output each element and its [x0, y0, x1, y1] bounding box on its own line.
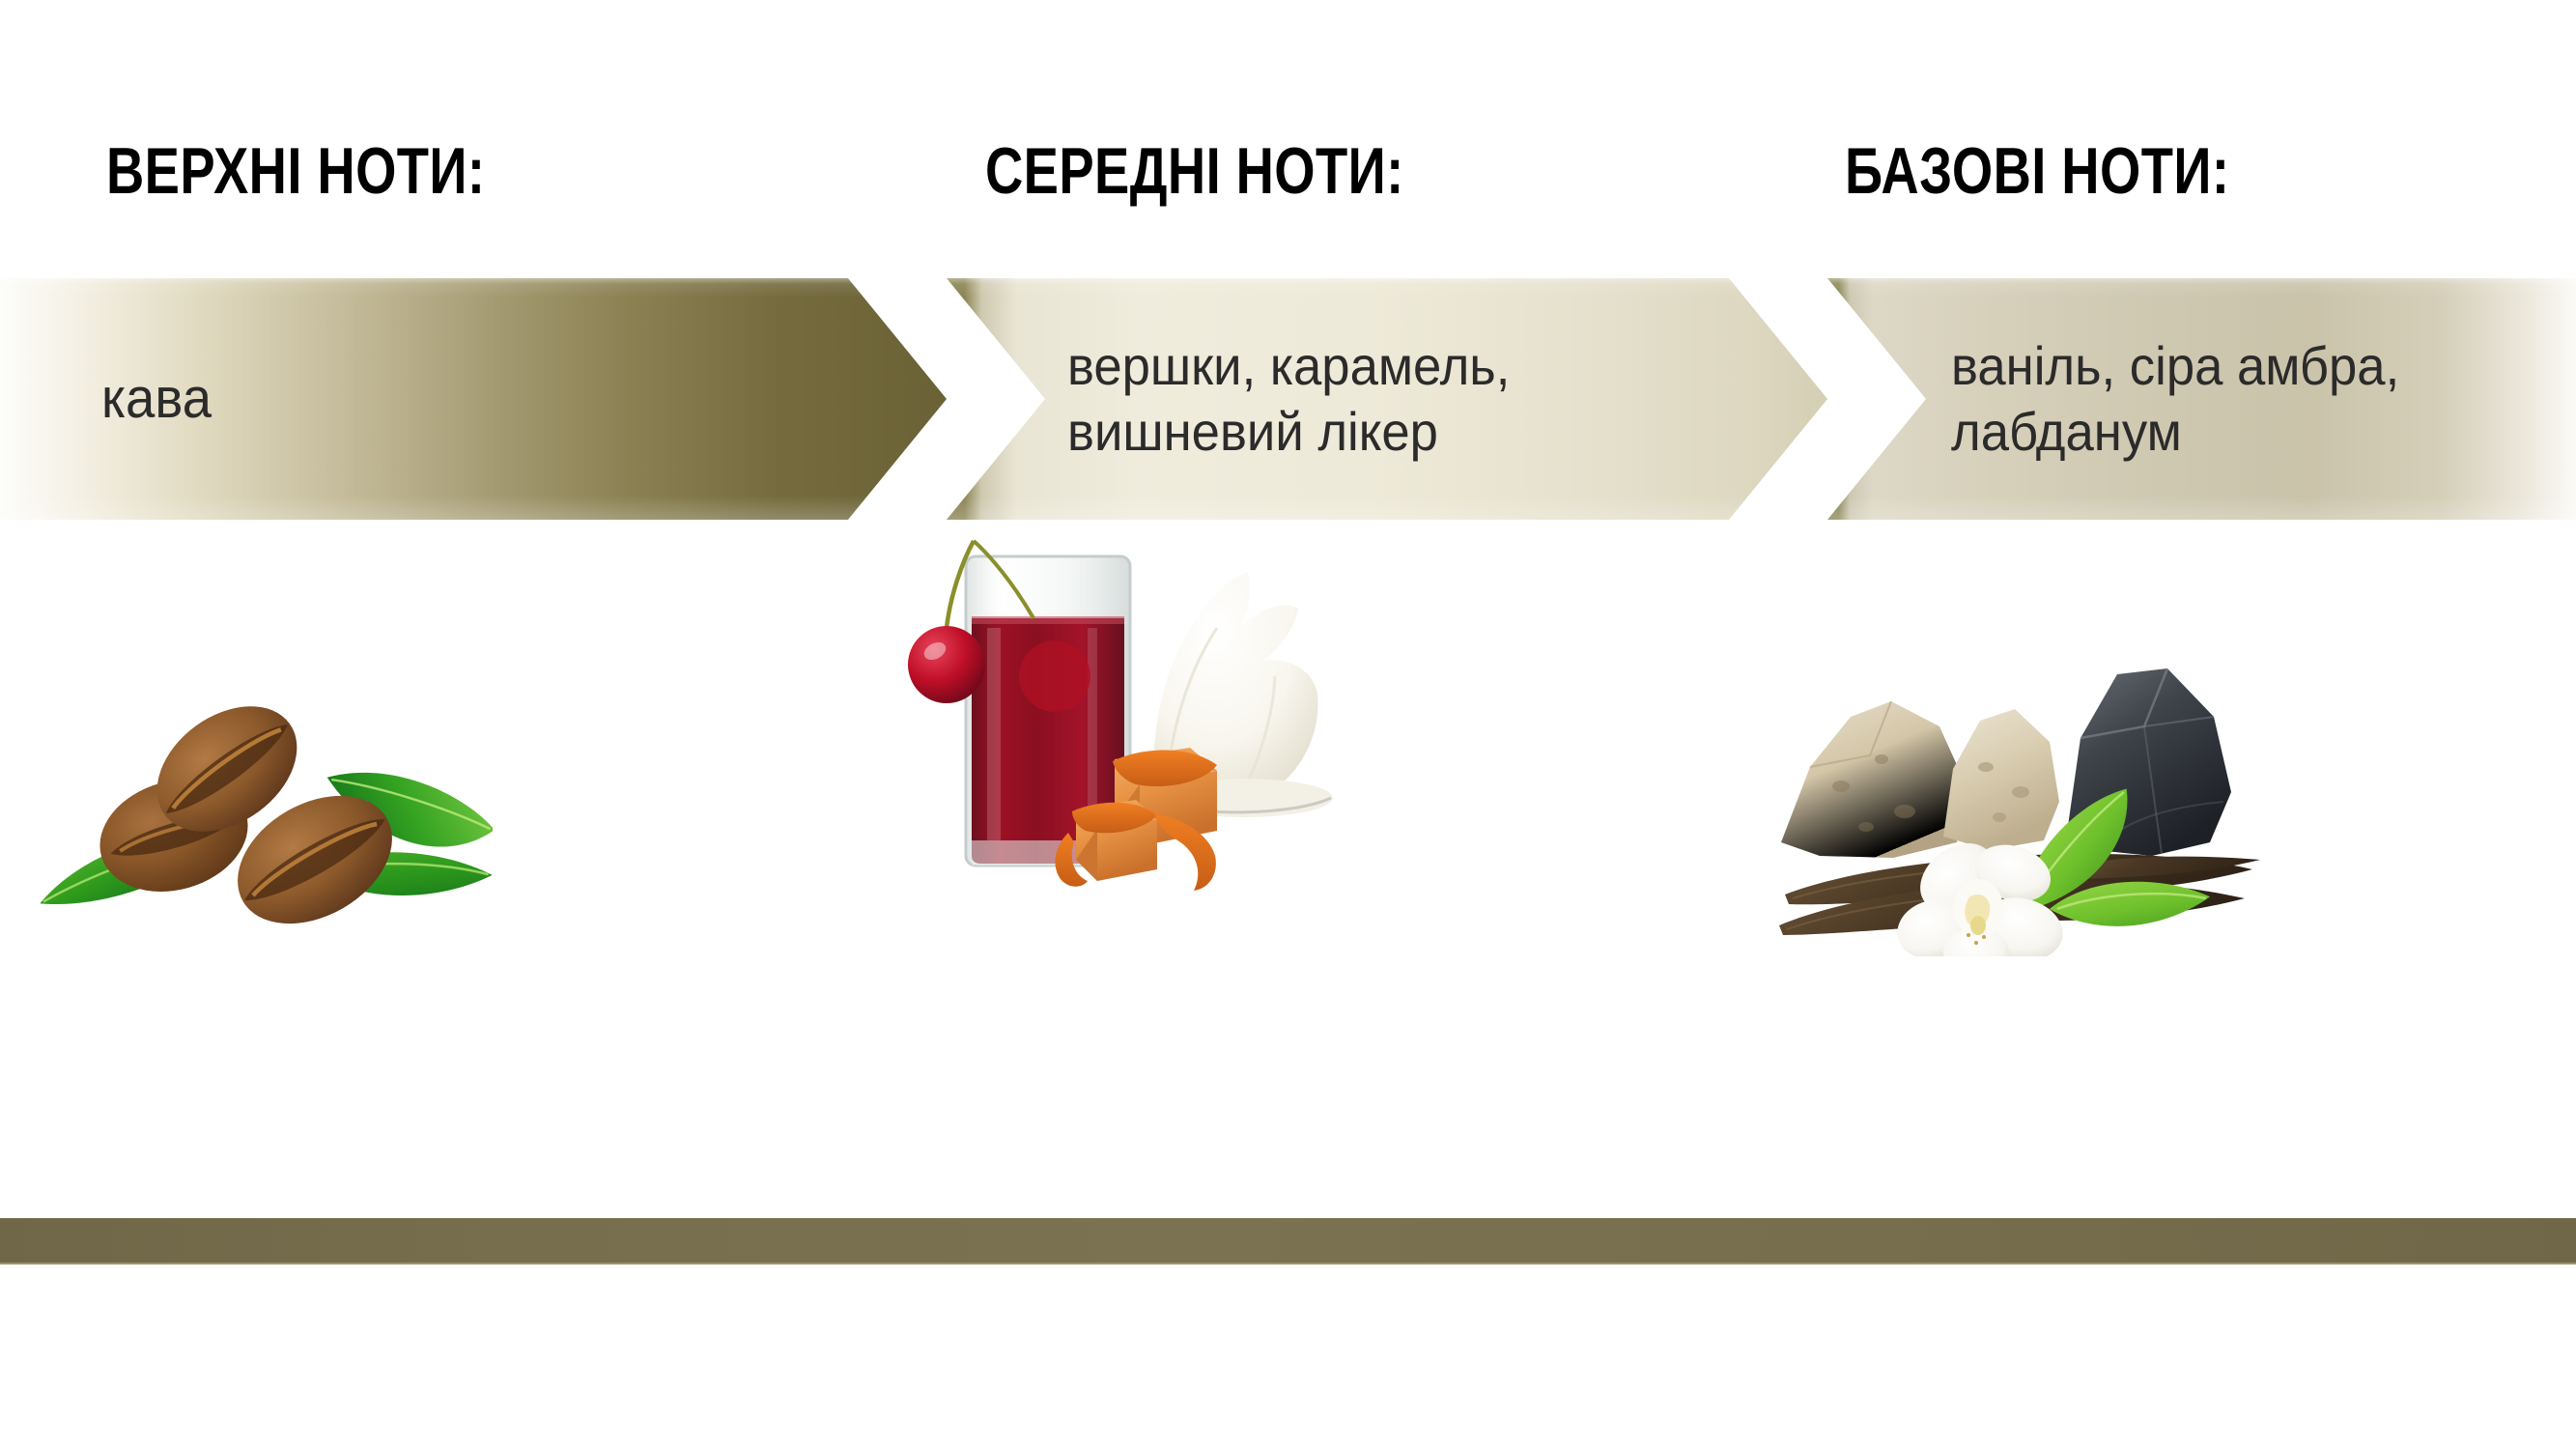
- ambergris-stone: [1943, 709, 2059, 850]
- chevron-segment-top-notes: кава: [0, 278, 947, 520]
- ambergris-stone: [1781, 701, 1967, 858]
- base-notes-text: ваніль, сіра амбра, лабданум: [1951, 333, 2399, 466]
- chevron-segment-middle-notes: вершки, карамель, вишневий лікер: [947, 278, 1827, 520]
- heading-base-notes: БАЗОВІ НОТИ:: [1845, 133, 2229, 209]
- caramel-cube: [1072, 800, 1157, 881]
- middle-notes-text: вершки, карамель, вишневий лікер: [1067, 333, 1510, 466]
- heading-top-notes: ВЕРХНІ НОТИ:: [106, 133, 485, 209]
- coffee-beans-illustration: [29, 676, 493, 927]
- footer-accent-bar: [0, 1218, 2576, 1264]
- fragrance-notes-infographic: ВЕРХНІ НОТИ: СЕРЕДНІ НОТИ: БАЗОВІ НОТИ: …: [0, 0, 2576, 1449]
- notes-chevron-band: кава вершки, карамель, вишневий лікер ва…: [0, 278, 2576, 520]
- chevron-segment-base-notes: ваніль, сіра амбра, лабданум: [1827, 278, 2576, 520]
- top-notes-text: кава: [101, 365, 212, 434]
- cream-caramel-cherry-liqueur-illustration: [908, 512, 1410, 918]
- heading-middle-notes: СЕРЕДНІ НОТИ:: [985, 133, 1404, 209]
- vanilla-ambergris-labdanum-illustration: [1777, 667, 2279, 956]
